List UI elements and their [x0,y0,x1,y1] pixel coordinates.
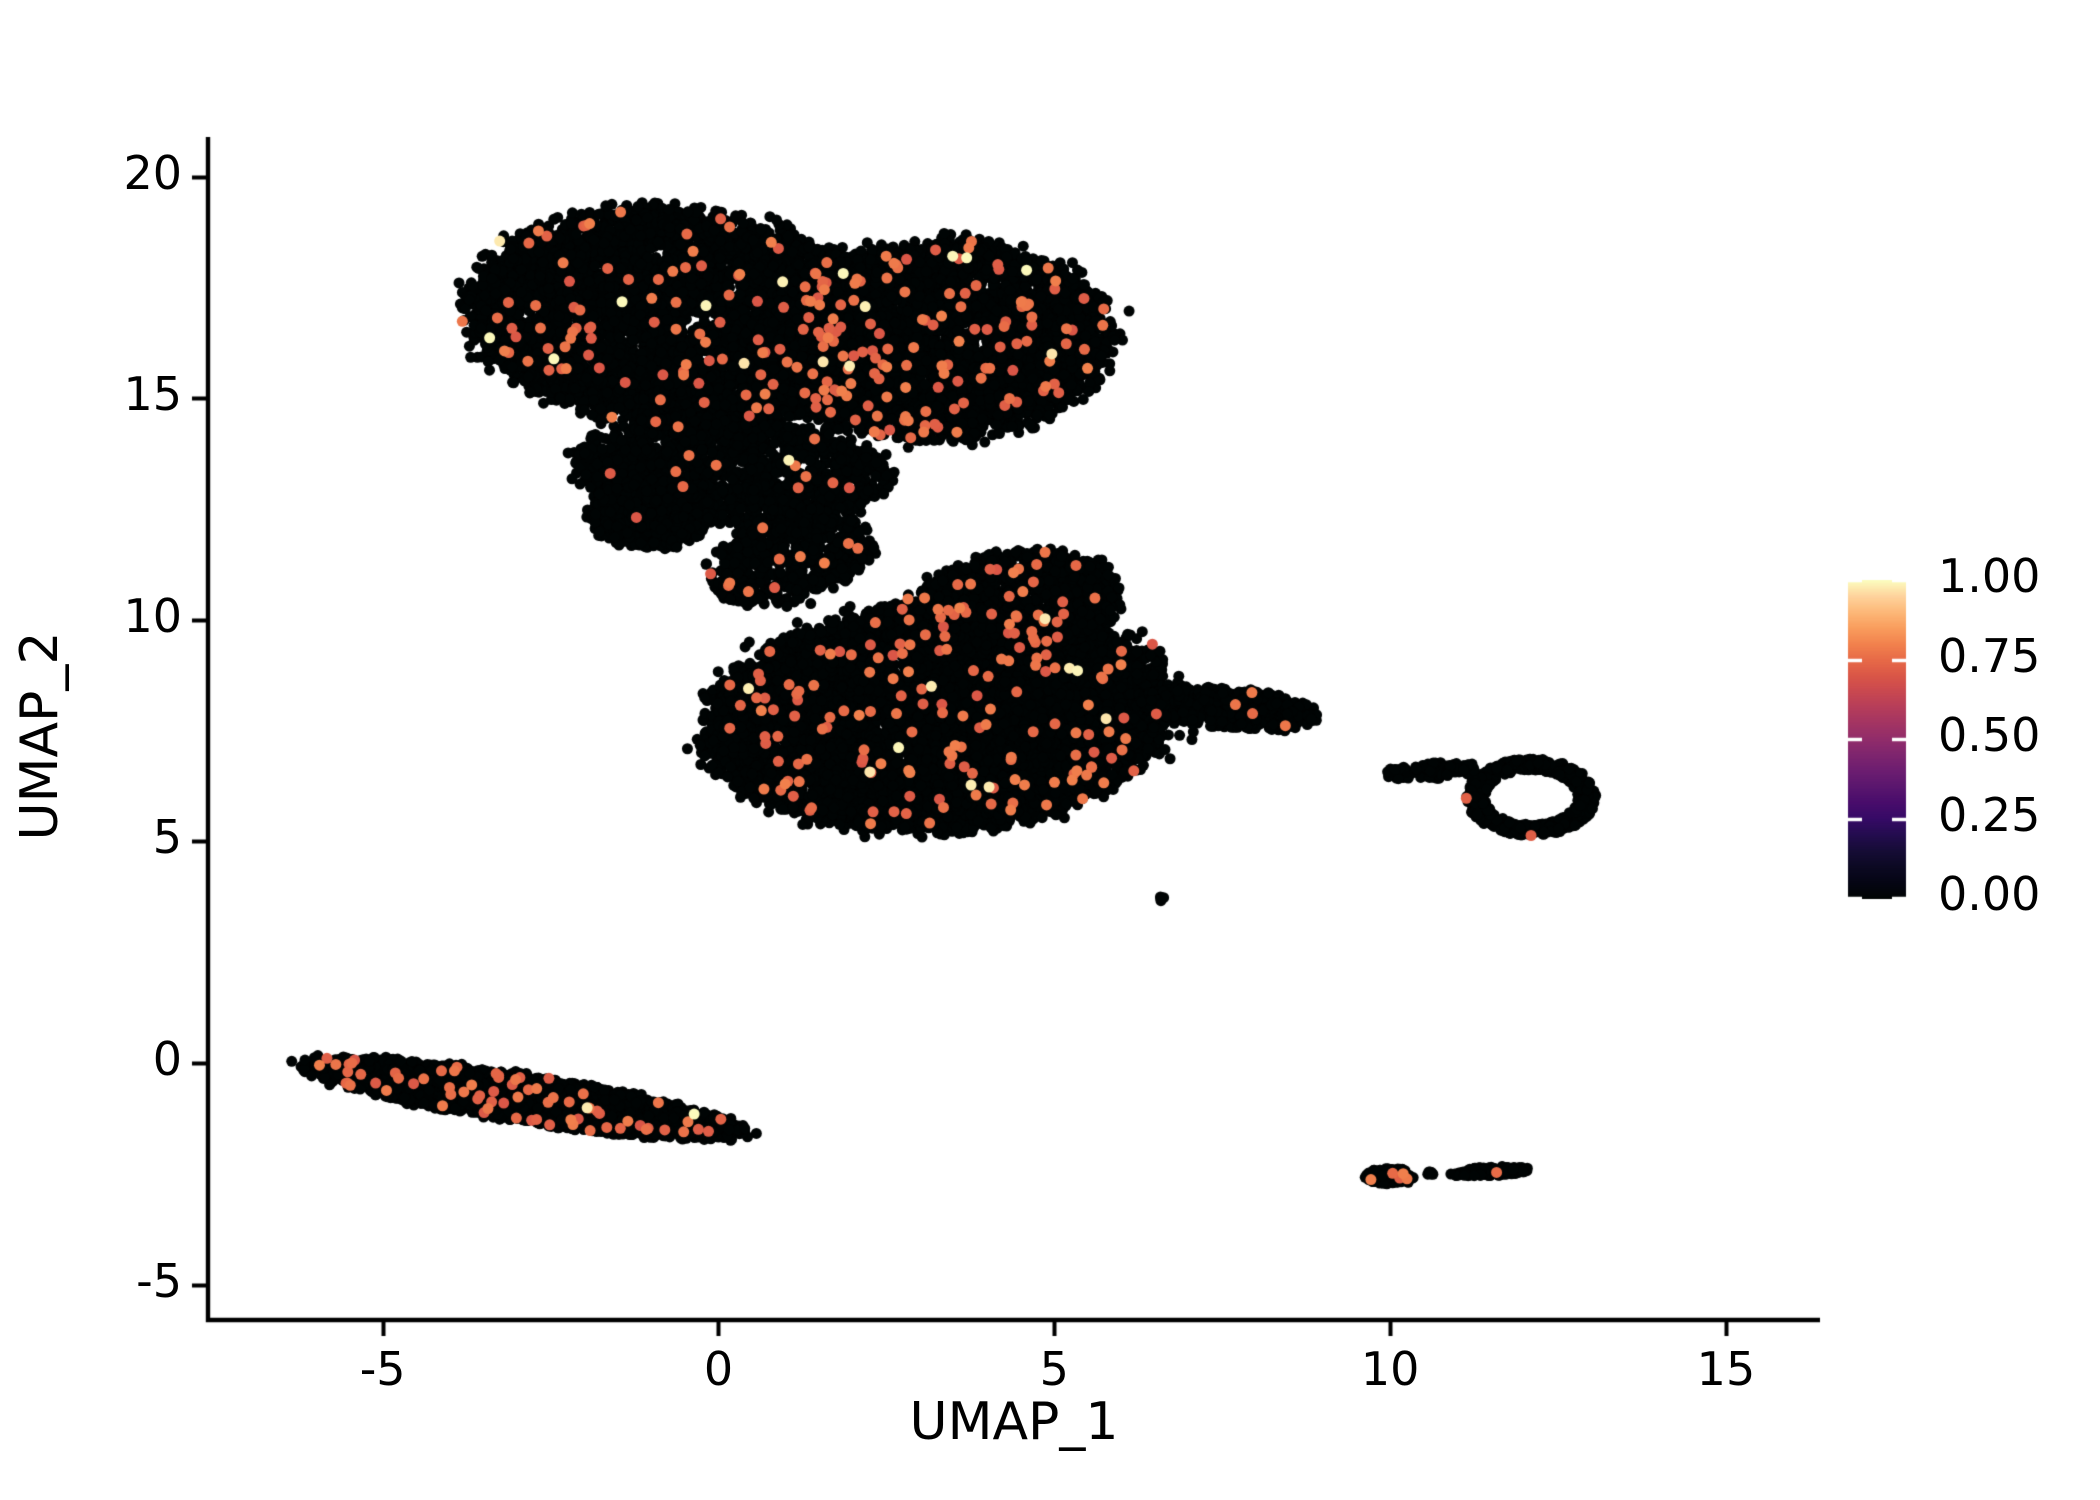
x-tick-label: 10 [1310,1342,1470,1396]
y-tick-label: 20 [22,146,182,200]
colorbar-tick-label: 0.25 [1938,788,2040,842]
y-tick-label: 10 [22,589,182,643]
x-tick-label: 5 [974,1342,1134,1396]
umap-feature-plot: ARHGAP39 UMAP_1 UMAP_2 -505101520 -50510… [0,0,2100,1500]
colorbar-tick-label: 0.50 [1938,708,2040,762]
x-tick-label: -5 [303,1342,463,1396]
colorbar-tick-label: 1.00 [1938,549,2040,603]
x-axis-label: UMAP_1 [0,1392,2028,1452]
x-tick-label: 15 [1646,1342,1806,1396]
y-tick-label: 15 [22,367,182,421]
y-tick-label: 5 [22,810,182,864]
colorbar-tick-label: 0.00 [1938,867,2040,921]
x-tick-label: 0 [638,1342,798,1396]
scatter-plot-canvas [0,0,2100,1500]
y-tick-label: -5 [22,1254,182,1308]
colorbar-tick-label: 0.75 [1938,629,2040,683]
y-tick-label: 0 [22,1032,182,1086]
